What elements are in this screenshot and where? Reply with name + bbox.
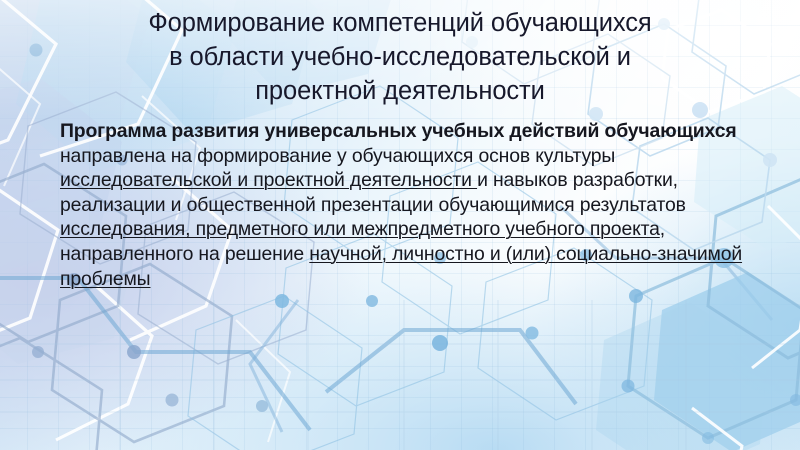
presentation-slide: Формирование компетенций обучающихся в о…: [0, 0, 800, 450]
body-segment-underlined-1: исследовательской и проектной деятельнос…: [60, 169, 477, 191]
slide-title-line-3: проектной деятельности: [62, 74, 738, 108]
slide-title-line-1: Формирование компетенций обучающихся: [62, 6, 738, 40]
body-segment-bold-intro: Программа развития универсальных учебных…: [60, 120, 737, 142]
body-segment-plain-1: направлена на формирование у обучающихся…: [60, 145, 615, 167]
slide-title-line-2: в области учебно-исследовательской и: [62, 40, 738, 74]
body-segment-underlined-2: исследования, предметного или межпредмет…: [60, 218, 660, 240]
slide-content: Формирование компетенций обучающихся в о…: [0, 0, 800, 450]
slide-body-paragraph: Программа развития универсальных учебных…: [60, 119, 750, 291]
slide-title: Формирование компетенций обучающихся в о…: [62, 6, 738, 108]
